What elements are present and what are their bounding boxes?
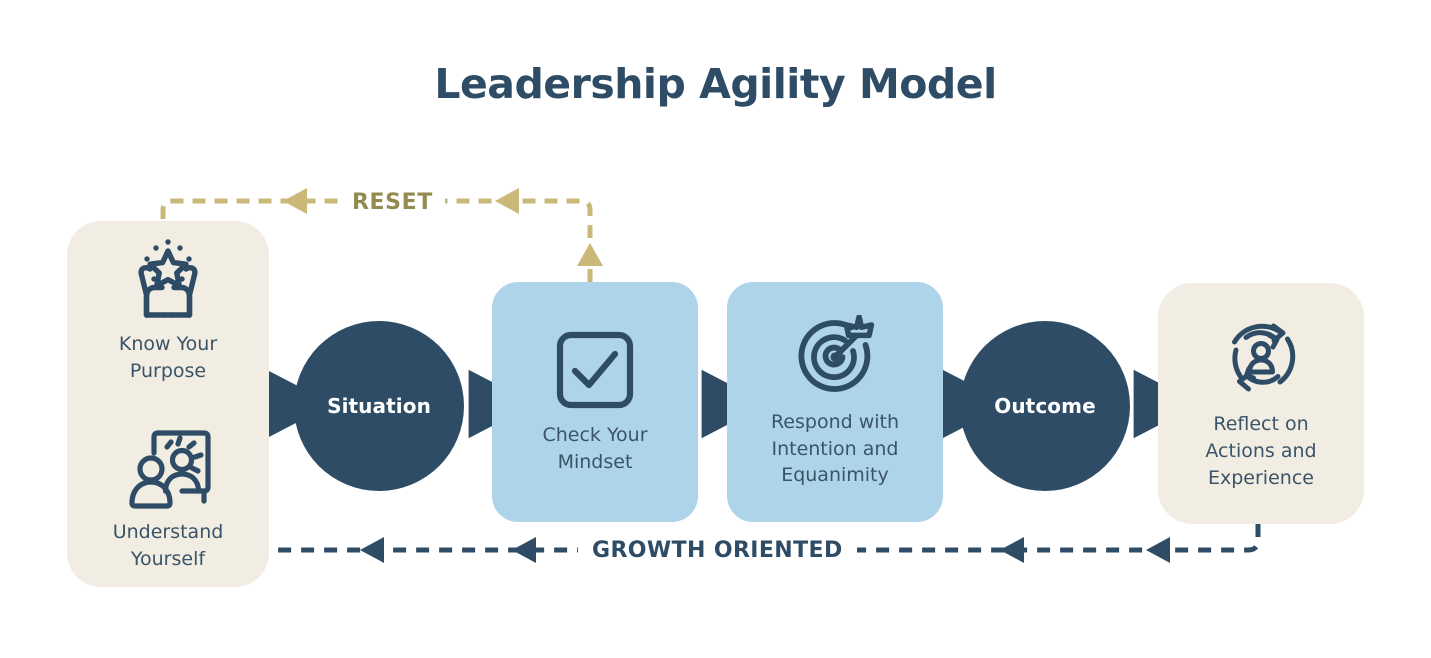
hands-holding-star-icon	[120, 235, 216, 321]
diagram-canvas: Leadership Agility Model	[0, 0, 1431, 658]
respond-card[interactable]: Respond with Intention and Equanimity	[727, 282, 943, 522]
reset-arrowhead-left	[283, 188, 307, 214]
outcome-node[interactable]: Outcome	[960, 321, 1130, 491]
growth-arrowhead-3	[512, 537, 536, 563]
respond-label: Respond with Intention and Equanimity	[771, 409, 899, 490]
situation-node[interactable]: Situation	[294, 321, 464, 491]
outcome-label: Outcome	[994, 394, 1096, 418]
foundation-item-label-understand: Understand Yourself	[113, 519, 224, 573]
growth-loop-label: GROWTH ORIENTED	[578, 538, 857, 563]
reflect-label: Reflect on Actions and Experience	[1205, 411, 1316, 492]
checkbox-check-icon	[553, 328, 637, 412]
check-mindset-card[interactable]: Check Your Mindset	[492, 282, 698, 522]
foundation-item-understand-yourself[interactable]: Understand Yourself	[113, 427, 224, 573]
growth-arrowhead-2	[1146, 537, 1170, 563]
reset-loop-label: RESET	[340, 190, 445, 215]
reset-arrowhead-mid	[495, 188, 519, 214]
person-cycle-icon	[1218, 315, 1304, 401]
foundation-item-know-your-purpose[interactable]: Know Your Purpose	[119, 235, 217, 385]
reflect-card[interactable]: Reflect on Actions and Experience	[1158, 283, 1364, 524]
page-title: Leadership Agility Model	[0, 60, 1431, 108]
situation-label: Situation	[327, 394, 431, 418]
foundation-item-label-purpose: Know Your Purpose	[119, 331, 217, 385]
people-mirror-icon	[120, 427, 216, 509]
foundation-card[interactable]: Know Your Purpose	[67, 221, 269, 587]
growth-arrowhead-4	[360, 537, 384, 563]
growth-arrowhead-1	[1000, 537, 1024, 563]
check-mindset-label: Check Your Mindset	[542, 422, 647, 476]
target-dart-icon	[793, 315, 877, 399]
reset-arrowhead-up	[577, 243, 603, 266]
